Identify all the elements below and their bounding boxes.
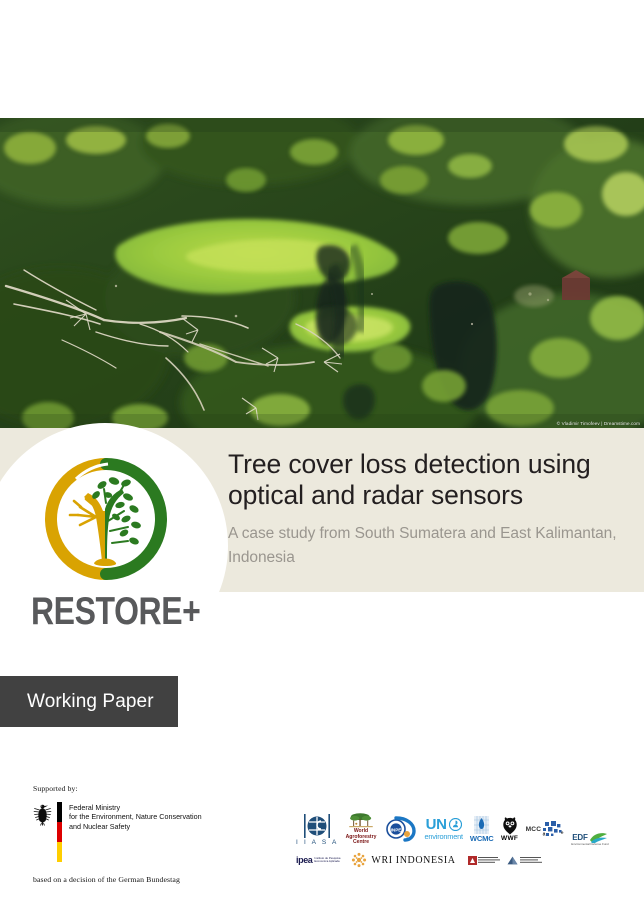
edf-sub-label: Environmental Defense Fund [571, 843, 608, 846]
page-title: Tree cover loss detection using optical … [228, 449, 638, 511]
bundestag-note: based on a decision of the German Bundes… [33, 875, 313, 884]
inpe-logo-icon: INPE [383, 815, 417, 843]
iiasa-logo-icon [304, 814, 330, 838]
institution-triangle-logo-icon [507, 856, 518, 865]
partner-row-1: I I A S A World Agroforestry Cent [296, 812, 636, 846]
photo-credit: © Vladimir Timofeev | Dreamstime.com [557, 421, 640, 426]
institution-red-logo-icon [468, 856, 477, 865]
partner-institution-red [468, 849, 501, 871]
un-label: UN [426, 817, 447, 832]
icraf-label: World Agroforestry Centre [346, 829, 377, 846]
edf-leaf-icon [589, 832, 608, 843]
restore-plus-wordmark: RESTORE+ [31, 590, 200, 634]
mcc-label: MCC [526, 826, 542, 833]
partner-un-environment: UN environment [424, 812, 462, 846]
flag-stripe-red [57, 822, 62, 842]
partner-wcmc: WCMC [470, 812, 494, 846]
partner-iiasa: I I A S A [296, 812, 339, 846]
wwf-label: WWF [501, 835, 518, 842]
icraf-label-line-3: Centre [346, 840, 377, 846]
partner-wri-indonesia: WRI INDONESIA [351, 849, 455, 871]
flag-stripe-black [57, 802, 62, 822]
ipea-label: ipea [296, 855, 312, 865]
ministry-line-3: and Nuclear Safety [69, 822, 202, 831]
wcmc-logo-icon [474, 816, 489, 834]
svg-text:e: e [561, 830, 564, 835]
partner-edf: EDF Environmental Defense Fund [571, 812, 608, 846]
restore-plus-logo-icon [38, 451, 174, 587]
partner-institution-triangle [507, 849, 542, 871]
bmu-logo: Federal Ministry for the Environment, Na… [33, 802, 313, 862]
german-eagle-icon [33, 802, 52, 826]
iiasa-label: I I A S A [296, 839, 339, 846]
document-type-banner: Working Paper [0, 676, 178, 727]
wcmc-label: WCMC [470, 834, 494, 843]
german-flag-bar [57, 802, 62, 862]
document-type-label: Working Paper [0, 691, 154, 713]
document-cover-page: © Vladimir Timofeev | Dreamstime.com [0, 0, 644, 908]
partner-inpe: INPE [383, 812, 417, 846]
wri-label: WRI INDONESIA [371, 855, 455, 866]
partner-mcc: MCC a e [526, 812, 565, 846]
svg-text:a: a [543, 832, 546, 837]
partner-icraf: World Agroforestry Centre [346, 812, 377, 846]
icraf-tree-logo-icon [346, 812, 376, 829]
ministry-line-1: Federal Ministry [69, 803, 202, 812]
hero-photograph: © Vladimir Timofeev | Dreamstime.com [0, 118, 644, 428]
un-globe-icon [449, 818, 462, 831]
mcc-logo-icon: a e [542, 821, 564, 837]
svg-text:INPE: INPE [391, 827, 402, 832]
flag-stripe-gold [57, 842, 62, 862]
wri-logo-icon [351, 852, 367, 868]
ipea-sub-label: Instituto de Pesquisa Economica Aplicada [314, 857, 342, 863]
institution-red-text-lines [478, 856, 500, 865]
aerial-swamp-illustration [0, 118, 644, 428]
ministry-line-2: for the Environment, Nature Conservation [69, 812, 202, 821]
funding-block: Supported by: [33, 784, 313, 884]
edf-label: EDF [572, 833, 587, 842]
restore-plus-logo [38, 451, 174, 587]
partner-wwf: WWF [501, 812, 519, 846]
partner-row-2: ipea Instituto de Pesquisa Economica Apl… [296, 849, 636, 871]
un-sub-label: environment [424, 832, 462, 841]
partner-logo-strip: I I A S A World Agroforestry Cent [296, 812, 636, 872]
title-block: Tree cover loss detection using optical … [228, 449, 638, 570]
wwf-panda-icon [501, 816, 519, 835]
partner-ipea: ipea Instituto de Pesquisa Economica Apl… [296, 849, 342, 871]
page-subtitle: A case study from South Sumatera and Eas… [228, 522, 638, 570]
institution-triangle-text-lines [520, 856, 542, 865]
ministry-name: Federal Ministry for the Environment, Na… [69, 802, 202, 831]
supported-by-label: Supported by: [33, 784, 313, 793]
